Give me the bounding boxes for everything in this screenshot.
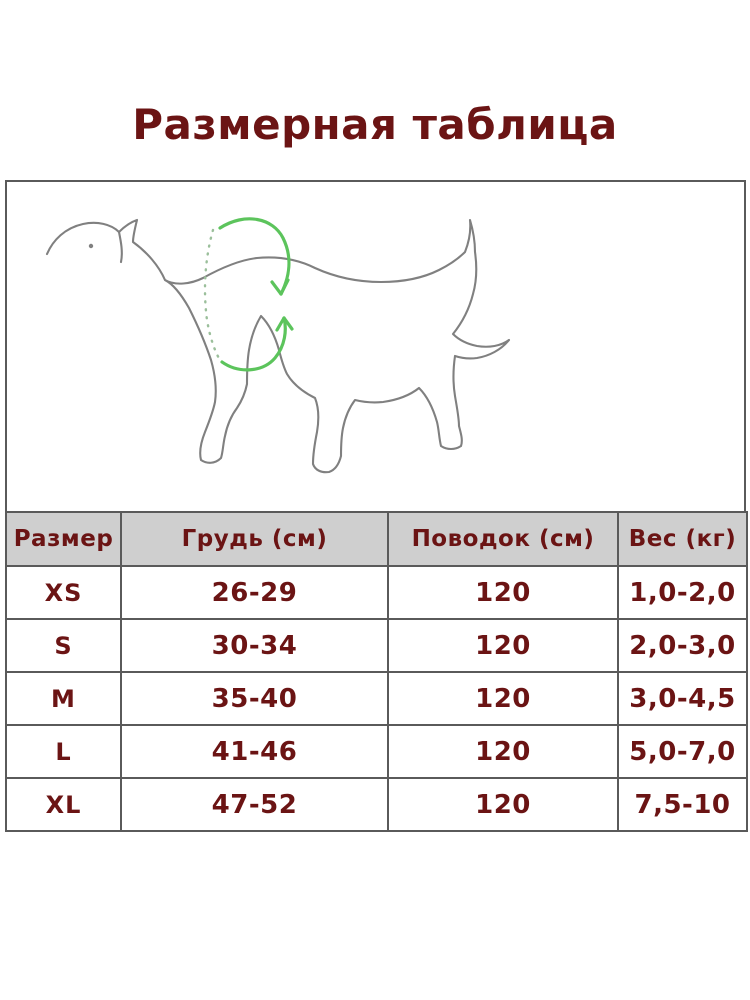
cell-leash: 120 — [388, 778, 618, 831]
cell-size: XS — [6, 566, 121, 619]
cell-size: XL — [6, 778, 121, 831]
cell-chest: 35-40 — [121, 672, 388, 725]
column-header-leash: Поводок (см) — [388, 512, 618, 566]
cell-chest: 30-34 — [121, 619, 388, 672]
cell-weight: 7,5-10 — [618, 778, 747, 831]
page-title: Размерная таблица — [0, 104, 750, 146]
table-row: S 30-34 120 2,0-3,0 — [6, 619, 747, 672]
cell-chest: 41-46 — [121, 725, 388, 778]
dog-outline-icon — [7, 182, 744, 511]
cell-size: L — [6, 725, 121, 778]
chest-measure-arrows-icon — [220, 219, 292, 370]
cell-leash: 120 — [388, 566, 618, 619]
cell-chest: 26-29 — [121, 566, 388, 619]
cell-weight: 5,0-7,0 — [618, 725, 747, 778]
table-row: XL 47-52 120 7,5-10 — [6, 778, 747, 831]
table-header-row: Размер Грудь (см) Поводок (см) Вес (кг) — [6, 512, 747, 566]
size-chart-frame: Грудь Размер Грудь (см) Поводок (см) Вес… — [5, 180, 746, 822]
cell-weight: 3,0-4,5 — [618, 672, 747, 725]
cell-size: M — [6, 672, 121, 725]
column-header-chest: Грудь (см) — [121, 512, 388, 566]
table-row: XS 26-29 120 1,0-2,0 — [6, 566, 747, 619]
dog-eye-icon — [89, 244, 93, 248]
chest-girth-dotted-line — [205, 230, 221, 362]
column-header-size: Размер — [6, 512, 121, 566]
cell-chest: 47-52 — [121, 778, 388, 831]
column-header-weight: Вес (кг) — [618, 512, 747, 566]
dog-measurement-illustration: Грудь — [7, 182, 744, 511]
cell-size: S — [6, 619, 121, 672]
cell-leash: 120 — [388, 725, 618, 778]
table-row: M 35-40 120 3,0-4,5 — [6, 672, 747, 725]
cell-weight: 1,0-2,0 — [618, 566, 747, 619]
size-table: Размер Грудь (см) Поводок (см) Вес (кг) … — [5, 511, 748, 832]
table-row: L 41-46 120 5,0-7,0 — [6, 725, 747, 778]
cell-leash: 120 — [388, 619, 618, 672]
cell-weight: 2,0-3,0 — [618, 619, 747, 672]
cell-leash: 120 — [388, 672, 618, 725]
